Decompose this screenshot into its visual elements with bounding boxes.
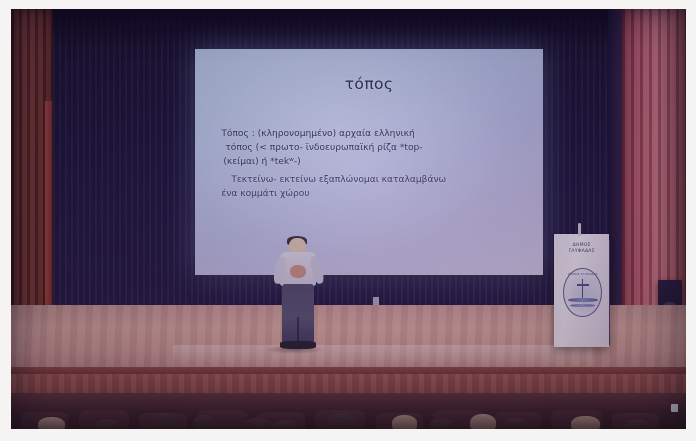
- audience-area: [11, 393, 686, 429]
- audience-member-silhouette: [504, 418, 527, 429]
- audience-member-silhouette: [193, 415, 215, 429]
- audience-member-silhouette: [38, 417, 65, 429]
- audience-member-silhouette: [153, 413, 177, 429]
- auditorium-hall: τόπος Τόπος : (κληρονομημένο) αρχαία ελλ…: [11, 9, 686, 429]
- presenter-legs: [282, 284, 314, 344]
- audience-member-silhouette: [430, 418, 453, 429]
- presenter-shoes: [280, 341, 316, 349]
- slide-title: τόπος: [195, 75, 543, 93]
- auditorium-photograph: τόπος Τόπος : (κληρονομημένο) αρχαία ελλ…: [11, 9, 686, 429]
- municipality-emblem-icon: ΔΗΜΟΣ ΓΛΥΦΑΔΑΣ: [563, 268, 602, 318]
- stage-small-object: [373, 297, 379, 305]
- audience-member-silhouette: [571, 416, 599, 429]
- slide-line-4: Τεκτείνω- εκτείνω εξαπλώνομαι καταλαμβάν…: [231, 174, 529, 188]
- audience-member-silhouette: [392, 415, 416, 429]
- audience-member-silhouette: [470, 414, 496, 429]
- emblem-ring-text: ΔΗΜΟΣ ΓΛΥΦΑΔΑΣ: [564, 272, 601, 276]
- audience-member-silhouette: [244, 418, 270, 429]
- audience-phone-screen: [671, 404, 678, 412]
- slide-line-1: Τόπος : (κληρονομημένο) αρχαία ελληνική: [221, 128, 529, 142]
- slide-line-5: ένα κομμάτι χώρου: [221, 188, 529, 202]
- audience-member-silhouette: [328, 413, 355, 429]
- photo-frame: τόπος Τόπος : (κληρονομημένο) αρχαία ελλ…: [0, 0, 696, 441]
- audience-member-silhouette: [625, 419, 648, 429]
- podium-line-2: ΓΛΥΦΑΔΑΣ: [554, 249, 609, 255]
- presenter-leg-gap: [297, 317, 299, 344]
- emblem-wave-upper: [568, 298, 598, 302]
- emblem-wave-lower: [570, 304, 595, 307]
- audience-member-silhouette: [95, 419, 118, 429]
- presenter-hands: [290, 265, 306, 278]
- podium-side-shadow: [609, 240, 610, 344]
- slide-line-2: τόπος (< πρωτο- ϊνδοευρωπαϊκή ρίζα *top-: [225, 142, 529, 156]
- slide-line-3: (κείμαι) ή *tekʷ-): [223, 156, 529, 170]
- backdrop-top-shadow: [11, 9, 686, 47]
- podium-microphone: [578, 223, 581, 235]
- presenter-figure: [273, 238, 323, 349]
- audience-member-silhouette: [274, 420, 297, 429]
- podium-lectern: ΔΗΜΟΣ ΓΛΥΦΑΔΑΣ ΔΗΜΟΣ ΓΛΥΦΑΔΑΣ: [554, 234, 609, 347]
- podium-text-block: ΔΗΜΟΣ ΓΛΥΦΑΔΑΣ: [554, 243, 609, 255]
- emblem-anchor-crossbar: [577, 284, 589, 286]
- slide-body: Τόπος : (κληρονομημένο) αρχαία ελληνική …: [221, 128, 529, 201]
- projection-screen: τόπος Τόπος : (κληρονομημένο) αρχαία ελλ…: [195, 49, 543, 275]
